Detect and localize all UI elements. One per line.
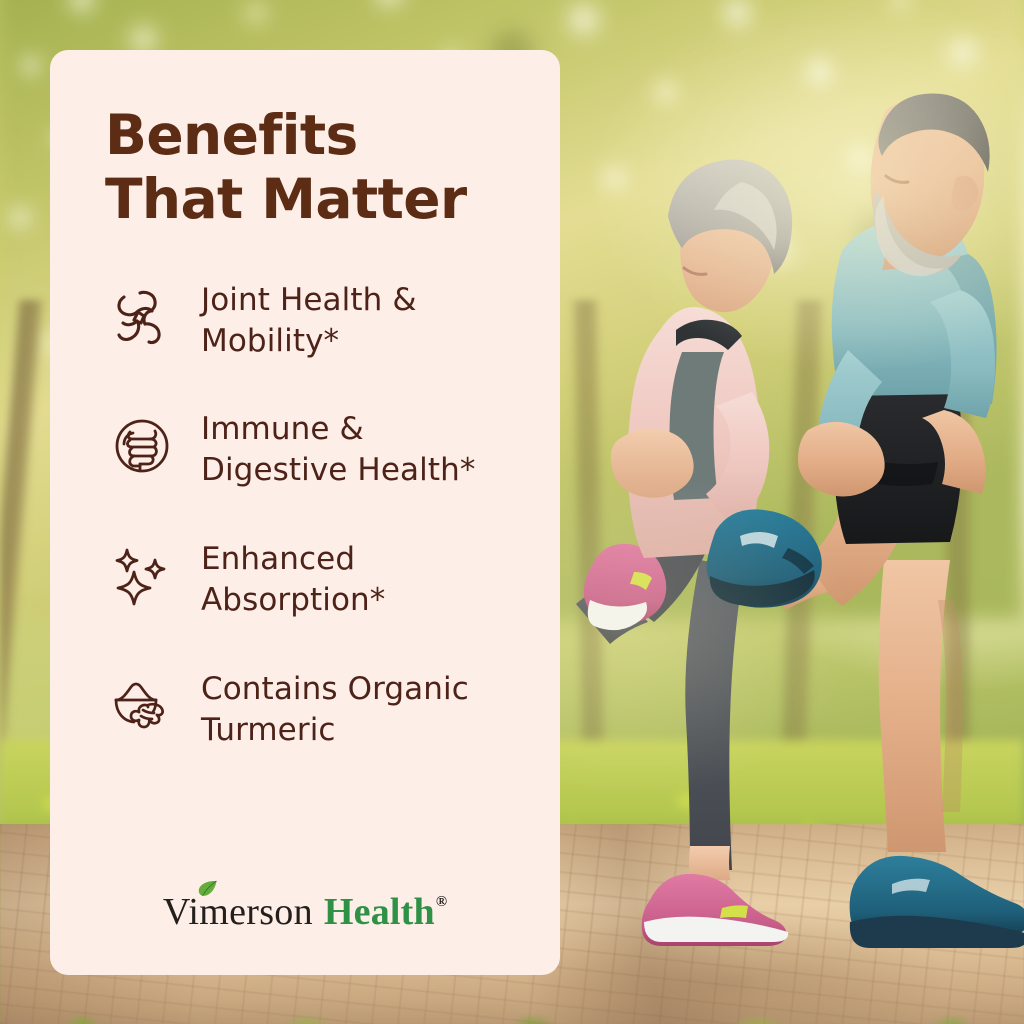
page-title: Benefits That Matter: [105, 104, 520, 232]
benefit-item-organic-turmeric: Contains Organic Turmeric: [105, 667, 520, 751]
benefit-label: Enhanced Absorption*: [201, 537, 385, 621]
benefit-item-immune-digestive: Immune & Digestive Health*: [105, 407, 520, 491]
benefit-item-enhanced-absorption: Enhanced Absorption*: [105, 537, 520, 621]
benefits-list: Joint Health & Mobility* Immune &: [105, 278, 520, 751]
sparkles-icon: [105, 539, 179, 613]
turmeric-bowl-icon: [105, 669, 179, 743]
man-shorts-fold: [878, 462, 938, 486]
registered-trademark-mark: ®: [436, 895, 447, 910]
brand-logo: Vimerson Health ®: [50, 893, 560, 931]
benefit-label: Immune & Digestive Health*: [201, 407, 475, 491]
benefit-label: Joint Health & Mobility*: [201, 278, 417, 362]
benefit-item-joint-health: Joint Health & Mobility*: [105, 278, 520, 362]
joint-bone-icon: [105, 280, 179, 354]
promo-image-stage: Benefits That Matter Joint Health: [0, 0, 1024, 1024]
benefits-card: Benefits That Matter Joint Health: [50, 50, 560, 975]
logo-brand-first: Vimerson: [163, 893, 313, 931]
woman-standing-leg: [685, 560, 744, 870]
gut-immune-icon: [105, 409, 179, 483]
leaf-icon: [196, 880, 218, 897]
benefit-label: Contains Organic Turmeric: [201, 667, 469, 751]
logo-brand-second: Health: [324, 893, 435, 931]
